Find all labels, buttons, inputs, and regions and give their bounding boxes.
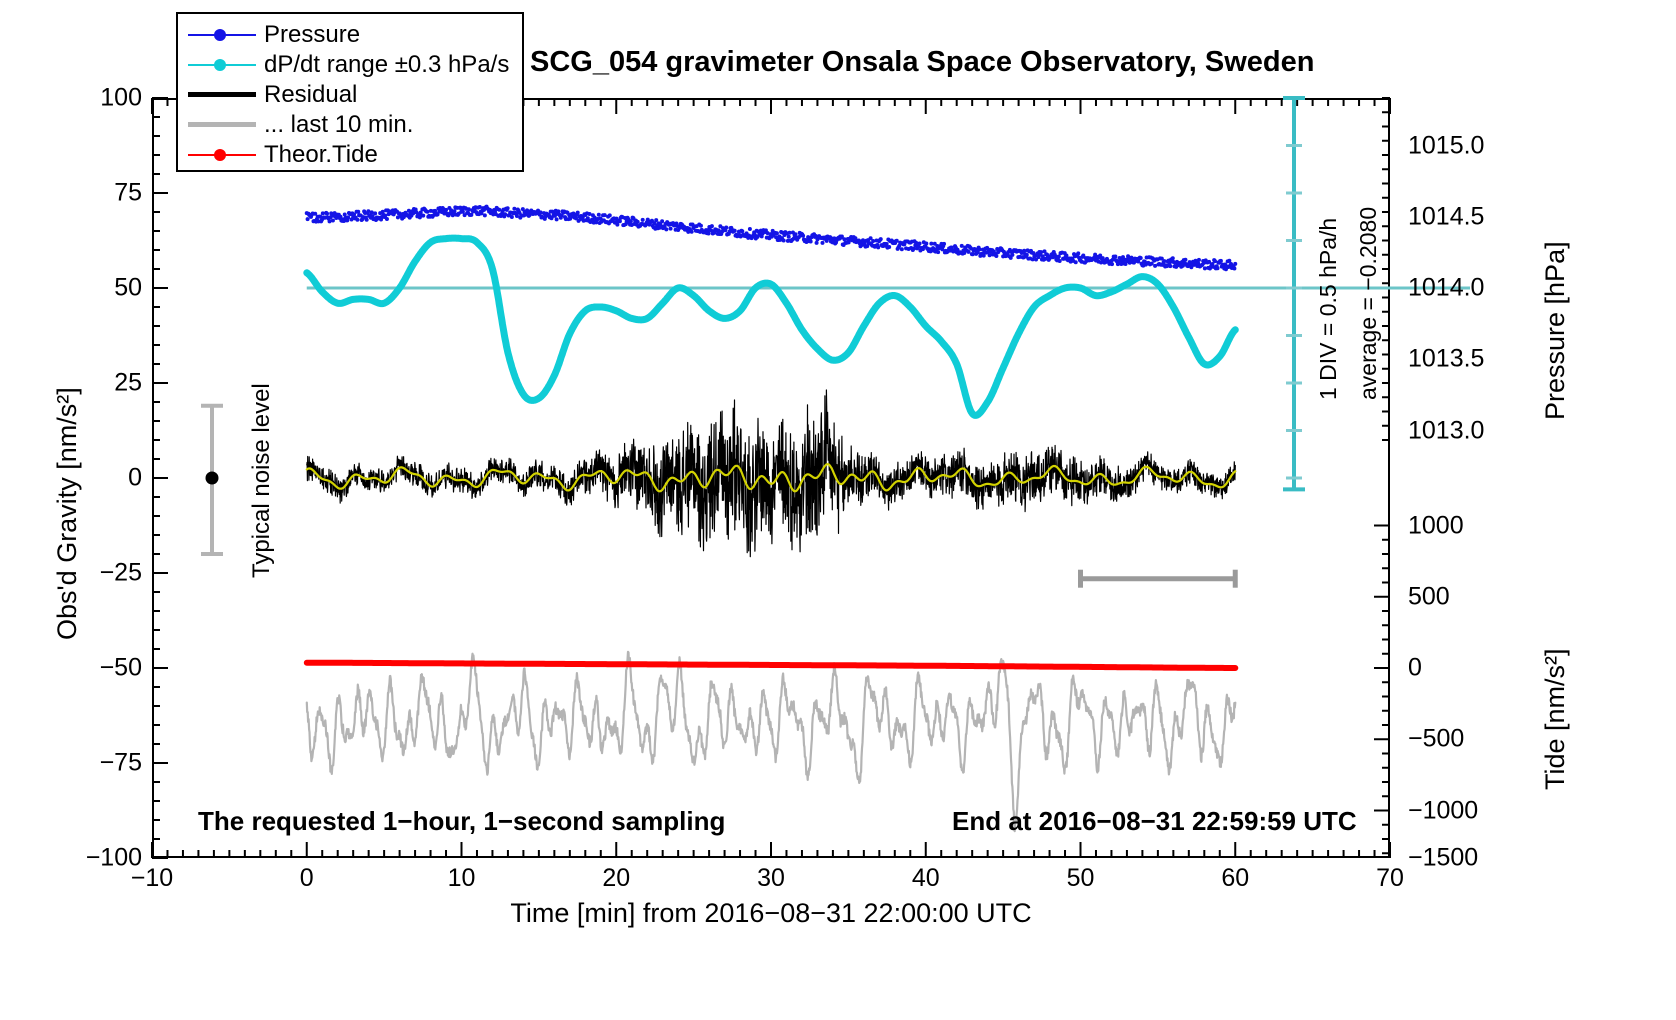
page-title: SCG_054 gravimeter Onsala Space Observat…	[530, 46, 1314, 79]
legend-label: Pressure	[264, 21, 360, 49]
y-tick-label: 75	[10, 179, 142, 208]
legend-swatch-3	[178, 110, 264, 140]
y-axis-tide-title: Tide [nm/s²]	[1540, 648, 1571, 790]
x-tick-label: −10	[131, 864, 173, 893]
pressure-tick-label: 1015.0	[1408, 131, 1484, 160]
x-tick-label: 70	[1376, 864, 1404, 893]
legend: PressuredP/dt range ±0.3 hPa/sResidual..…	[176, 12, 524, 172]
y-tick-label: −100	[10, 844, 142, 873]
legend-swatch-4	[178, 140, 264, 170]
legend-item[interactable]: Theor.Tide	[178, 140, 522, 170]
legend-item[interactable]: ... last 10 min.	[178, 110, 522, 140]
legend-swatch-1	[178, 50, 264, 80]
legend-label: dP/dt range ±0.3 hPa/s	[264, 51, 509, 79]
tide-tick-label: 0	[1408, 654, 1422, 683]
y-tick-label: −75	[10, 749, 142, 778]
typical-noise-level-label: Typical noise level	[248, 383, 276, 578]
y-tick-label: 100	[10, 84, 142, 113]
y-axis-left-title: Obs'd Gravity [nm/s²]	[52, 387, 83, 640]
x-tick-label: 20	[602, 864, 630, 893]
legend-line-icon	[188, 92, 256, 97]
pressure-tick-label: 1014.5	[1408, 202, 1484, 231]
y-tick-label: 50	[10, 274, 142, 303]
x-axis-title: Time [min] from 2016−08−31 22:00:00 UTC	[152, 898, 1390, 929]
legend-item[interactable]: Pressure	[178, 20, 522, 50]
y-axis-pressure-title: Pressure [hPa]	[1540, 241, 1571, 420]
legend-label: Theor.Tide	[264, 141, 378, 169]
plot-frame	[152, 98, 1390, 858]
legend-label: ... last 10 min.	[264, 111, 413, 139]
tide-tick-label: 500	[1408, 582, 1450, 611]
div-scale-note: 1 DIV = 0.5 hPa/h	[1315, 218, 1342, 400]
legend-swatch-2	[178, 80, 264, 110]
chart-canvas: SCG_054 gravimeter Onsala Space Observat…	[0, 0, 1676, 1020]
tide-tick-label: −500	[1408, 725, 1464, 754]
average-note: average = −0.2080	[1355, 207, 1382, 400]
y-tick-label: −50	[10, 654, 142, 683]
x-tick-label: 0	[300, 864, 314, 893]
legend-item[interactable]: Residual	[178, 80, 522, 110]
legend-item[interactable]: dP/dt range ±0.3 hPa/s	[178, 50, 522, 80]
legend-line-icon	[188, 122, 256, 127]
tide-tick-label: −1000	[1408, 796, 1478, 825]
x-tick-label: 10	[448, 864, 476, 893]
legend-dot-icon	[214, 29, 226, 41]
pressure-tick-label: 1013.5	[1408, 345, 1484, 374]
pressure-tick-label: 1014.0	[1408, 274, 1484, 303]
legend-dot-icon	[214, 149, 226, 161]
end-time-note: End at 2016−08−31 22:59:59 UTC	[952, 806, 1357, 837]
legend-swatch-0	[178, 20, 264, 50]
x-tick-label: 40	[912, 864, 940, 893]
tide-tick-label: 1000	[1408, 511, 1464, 540]
legend-dot-icon	[214, 59, 226, 71]
x-tick-label: 60	[1221, 864, 1249, 893]
sampling-note: The requested 1−hour, 1−second sampling	[198, 806, 725, 837]
pressure-tick-label: 1013.0	[1408, 416, 1484, 445]
legend-label: Residual	[264, 81, 357, 109]
x-tick-label: 50	[1067, 864, 1095, 893]
x-tick-label: 30	[757, 864, 785, 893]
tide-tick-label: −1500	[1408, 844, 1478, 873]
